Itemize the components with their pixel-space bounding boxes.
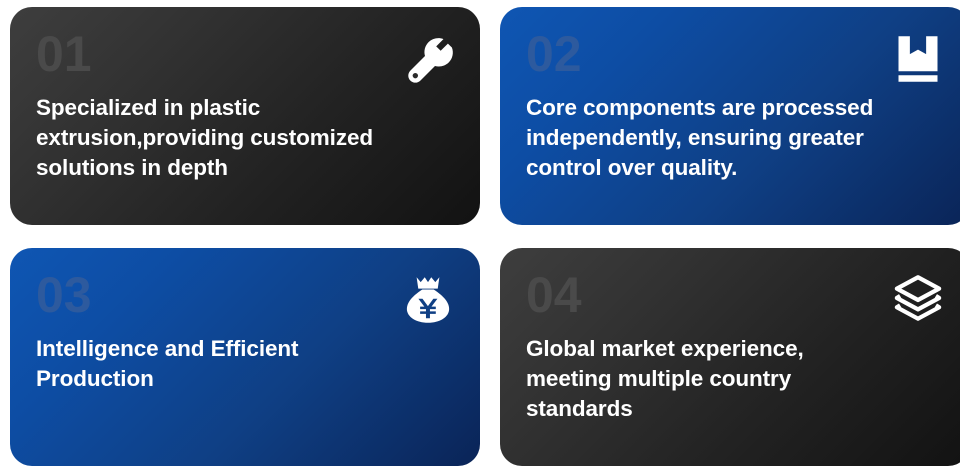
money-bag-yen-icon: [402, 274, 454, 326]
layers-stack-icon: [892, 274, 944, 326]
book-bookmark-icon: [892, 33, 944, 85]
wrench-icon: [402, 33, 454, 85]
card-number-02: 02: [526, 29, 944, 79]
feature-card-01[interactable]: 01 Specialized in plastic extrusion,prov…: [10, 7, 480, 225]
card-number-01: 01: [36, 29, 454, 79]
feature-card-grid: 01 Specialized in plastic extrusion,prov…: [0, 0, 960, 459]
card-number-04: 04: [526, 270, 944, 320]
card-text-03: Intelligence and Efficient Production: [36, 334, 454, 394]
feature-card-03[interactable]: 03 Intelligence and Efficient Production: [10, 248, 480, 466]
card-number-03: 03: [36, 270, 454, 320]
card-text-02: Core components are processed independen…: [526, 93, 944, 183]
feature-card-04[interactable]: 04 Global market experience, meeting mul…: [500, 248, 960, 466]
card-text-01: Specialized in plastic extrusion,providi…: [36, 93, 454, 183]
feature-card-02[interactable]: 02 Core components are processed indepen…: [500, 7, 960, 225]
card-text-04: Global market experience, meeting multip…: [526, 334, 944, 424]
